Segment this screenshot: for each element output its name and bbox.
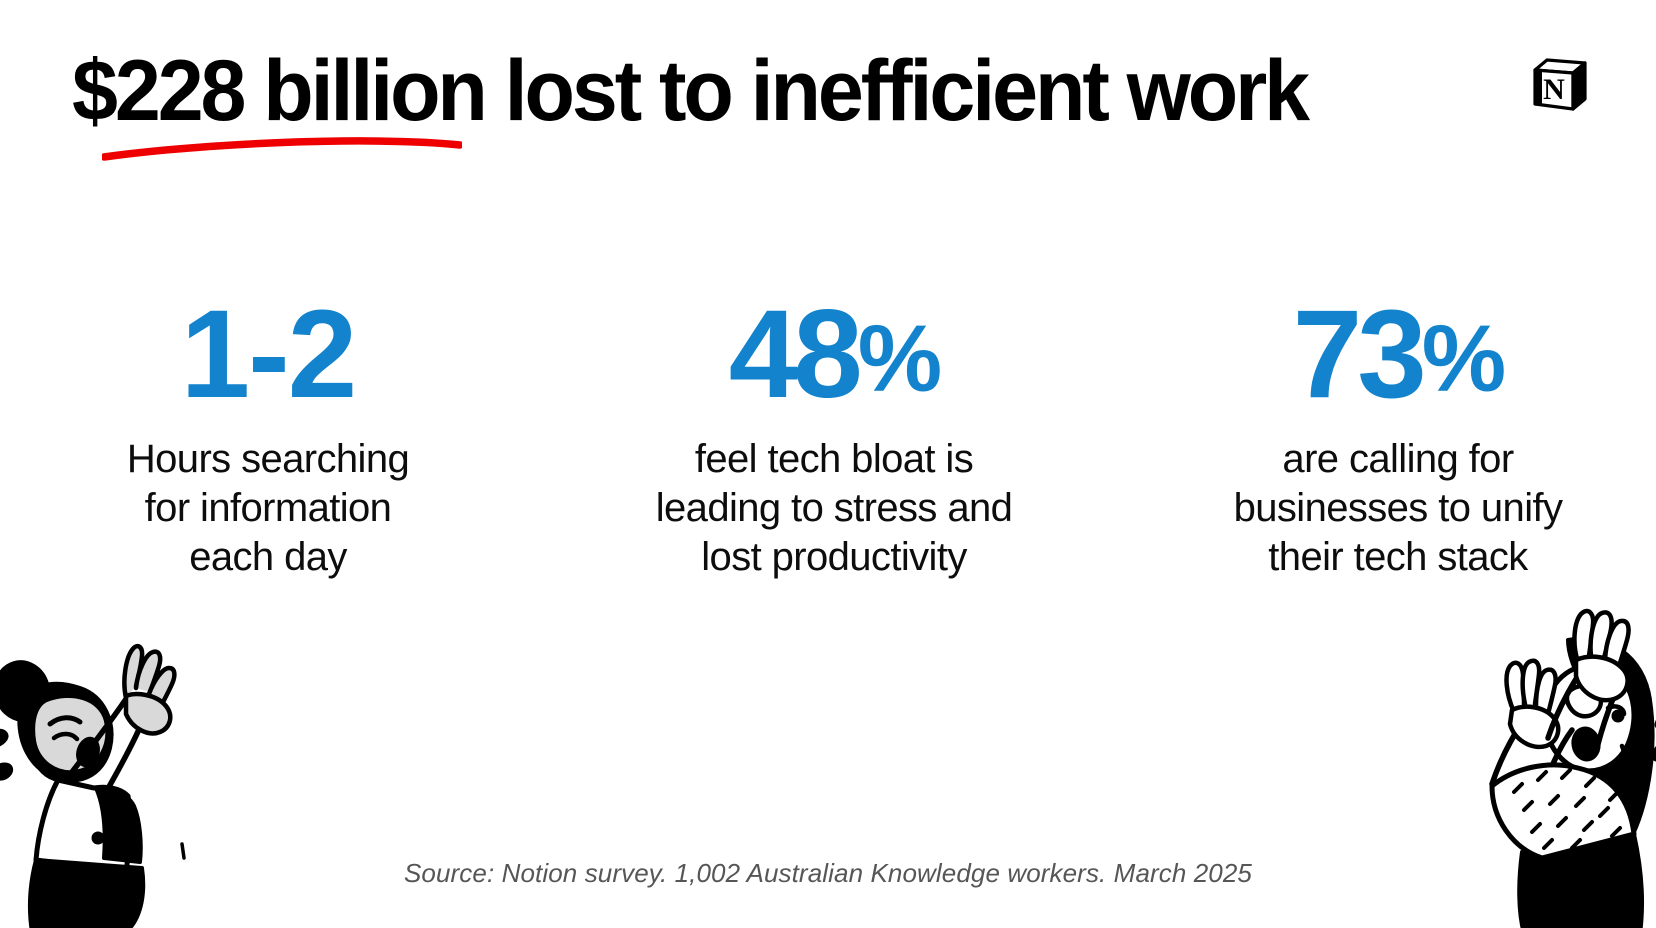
stat-caption-3: are calling for businesses to unify thei…	[1234, 435, 1563, 581]
stat-number-3: 73	[1293, 285, 1422, 424]
stat-caption-2: feel tech bloat is leading to stress and…	[656, 435, 1013, 581]
stats-row: 1-2 Hours searching for information each…	[0, 292, 1656, 581]
stat-block-3: 73% are calling for businesses to unify …	[1122, 292, 1656, 581]
stat-suffix-2: %	[858, 306, 939, 412]
page-title: $228 billion lost to inefficient work	[72, 48, 1307, 136]
stat-suffix-3: %	[1422, 306, 1503, 412]
stat-number-1: 1-2	[181, 285, 356, 424]
stat-value-1: 1-2	[181, 292, 356, 417]
stat-value-2: 48%	[729, 292, 940, 417]
stat-block-1: 1-2 Hours searching for information each…	[0, 292, 544, 581]
header: $228 billion lost to inefficient work N	[72, 48, 1592, 136]
title-block: $228 billion lost to inefficient work	[72, 48, 1359, 136]
title-underline-stroke	[102, 136, 462, 162]
source-note: Source: Notion survey. 1,002 Australian …	[0, 858, 1656, 889]
notion-logo: N	[1528, 54, 1592, 118]
notion-logo-letter: N	[1543, 73, 1565, 106]
stat-block-2: 48% feel tech bloat is leading to stress…	[558, 292, 1110, 581]
stat-number-2: 48	[729, 285, 858, 424]
stat-caption-1: Hours searching for information each day	[127, 435, 409, 581]
stat-value-3: 73%	[1293, 292, 1504, 417]
infographic-slide: $228 billion lost to inefficient work N …	[0, 0, 1656, 928]
